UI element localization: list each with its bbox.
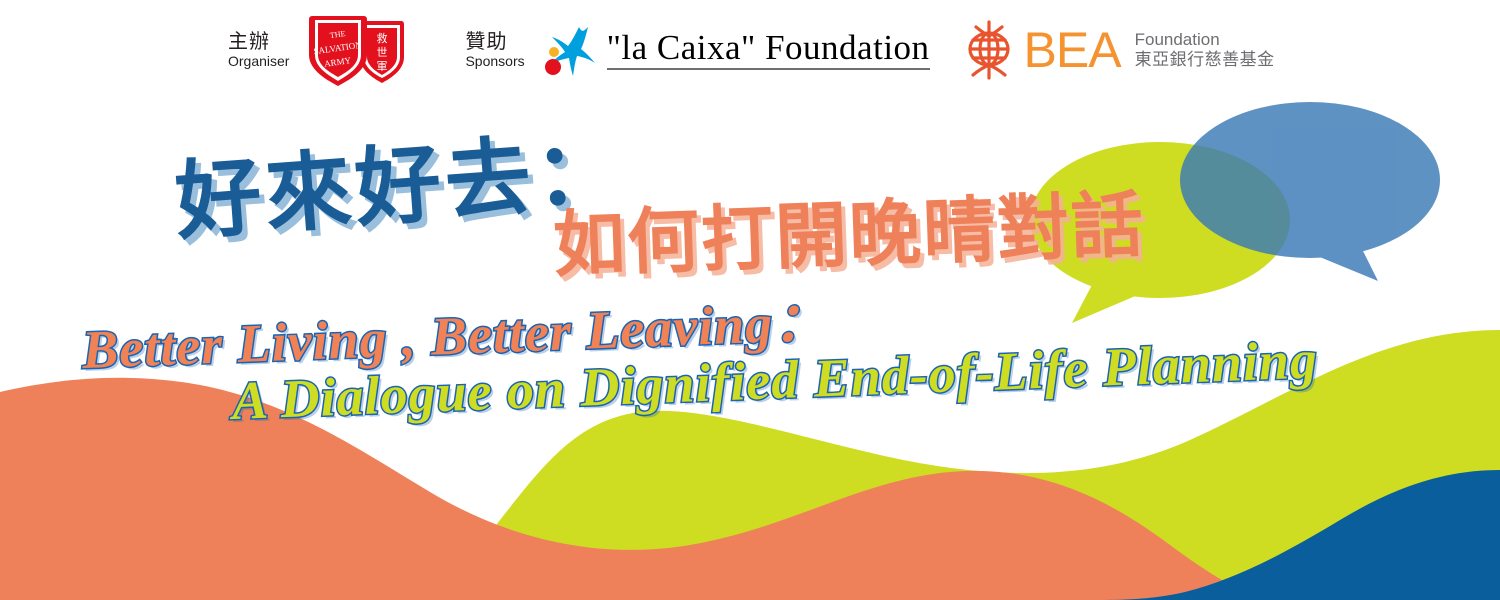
la-caixa-star-icon xyxy=(539,19,601,81)
svg-text:軍: 軍 xyxy=(377,60,388,73)
sponsors-label-en: Sponsors xyxy=(465,53,524,69)
organiser-label-zh: 主辦 xyxy=(228,30,289,53)
bea-wordmark: BEA xyxy=(1024,25,1121,75)
logo-strip: 主辦 Organiser 救 世 軍 THE SALVATION ARMY xyxy=(0,0,1500,100)
sponsors-group: 贊助 Sponsors "la Caixa" Foundation xyxy=(465,18,1274,82)
salvation-army-logo: 救 世 軍 THE SALVATION ARMY xyxy=(305,11,409,89)
la-caixa-text: "la Caixa" Foundation xyxy=(607,30,930,65)
bea-foundation-logo: BEA Foundation 東亞銀行慈善基金 xyxy=(960,18,1275,82)
wave-darkblue xyxy=(1100,470,1500,600)
la-caixa-foundation-logo: "la Caixa" Foundation xyxy=(539,19,930,81)
sponsors-label: 贊助 Sponsors xyxy=(465,30,524,69)
bea-subtitle-zh: 東亞銀行慈善基金 xyxy=(1135,50,1275,71)
bea-subtitle: Foundation 東亞銀行慈善基金 xyxy=(1135,29,1275,72)
organiser-label: 主辦 Organiser xyxy=(228,30,289,69)
la-caixa-underline xyxy=(607,68,930,70)
title-chinese-sub: 如何打開晚晴對話 xyxy=(551,165,1146,291)
la-caixa-wordmark: "la Caixa" Foundation xyxy=(607,30,930,70)
bea-subtitle-en: Foundation xyxy=(1135,29,1275,50)
organiser-group: 主辦 Organiser 救 世 軍 THE SALVATION ARMY xyxy=(228,11,409,89)
bea-mark-icon xyxy=(960,18,1018,82)
organiser-label-en: Organiser xyxy=(228,53,289,69)
svg-text:救: 救 xyxy=(377,31,388,45)
svg-text:世: 世 xyxy=(377,46,388,59)
sponsors-label-zh: 贊助 xyxy=(465,30,524,53)
event-banner: 主辦 Organiser 救 世 軍 THE SALVATION ARMY xyxy=(0,0,1500,600)
